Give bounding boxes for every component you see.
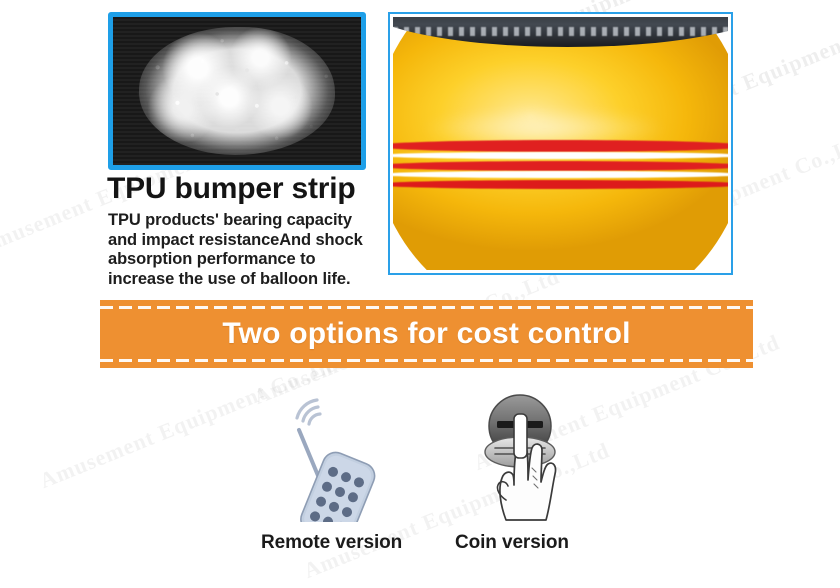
coin-version-caption: Coin version [455,532,569,554]
product-feature-page: Amusement Equipment Co.,Ltd Amusement Eq… [0,0,840,588]
bumper-ball-photo [388,12,733,275]
bumper-ball-image [393,17,728,270]
remote-control-icon [245,392,415,522]
remote-version-caption: Remote version [261,532,402,554]
banner-title: Two options for cost control [100,300,753,368]
bumper-stripe-red [393,180,728,189]
bumper-top-stitching [393,27,728,36]
tpu-pellets-photo [108,12,366,170]
cost-control-banner: Two options for cost control [100,300,753,368]
bumper-stripe-red [393,140,728,152]
bumper-stripe-red [393,161,728,171]
coin-version-option[interactable] [440,392,600,522]
remote-version-option[interactable] [245,392,415,522]
pellets-granules [113,17,361,165]
feature-description: TPU products' bearing capacity and impac… [108,211,376,289]
coin-insert-hand-icon [440,392,600,522]
feature-title: TPU bumper strip [107,174,356,204]
